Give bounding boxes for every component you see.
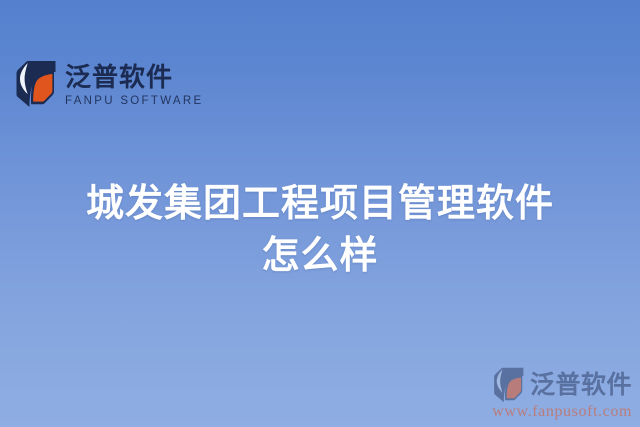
watermark-logo-row: 泛普软件 — [493, 367, 632, 403]
brand-name-en: FANPU SOFTWARE — [65, 95, 203, 108]
page-title-line-1: 城发集团工程项目管理软件 — [0, 178, 640, 230]
brand-lockup: 泛普软件 FANPU SOFTWARE — [16, 60, 203, 108]
fanpu-shield-logo-icon — [493, 367, 526, 403]
watermark-url: www.fanpusoft.com — [492, 402, 632, 421]
brand-name-cn: 泛普软件 — [65, 62, 173, 92]
fanpu-shield-logo-icon — [16, 60, 58, 108]
promo-banner: 泛普软件 FANPU SOFTWARE 城发集团工程项目管理软件 怎么样 泛普软… — [0, 0, 640, 427]
page-title: 城发集团工程项目管理软件 怎么样 — [0, 178, 640, 282]
watermark: 泛普软件 www.fanpusoft.com — [492, 367, 632, 421]
brand-text-group: 泛普软件 FANPU SOFTWARE — [65, 60, 203, 108]
watermark-name-cn: 泛普软件 — [530, 371, 632, 399]
page-title-line-2: 怎么样 — [0, 230, 640, 282]
